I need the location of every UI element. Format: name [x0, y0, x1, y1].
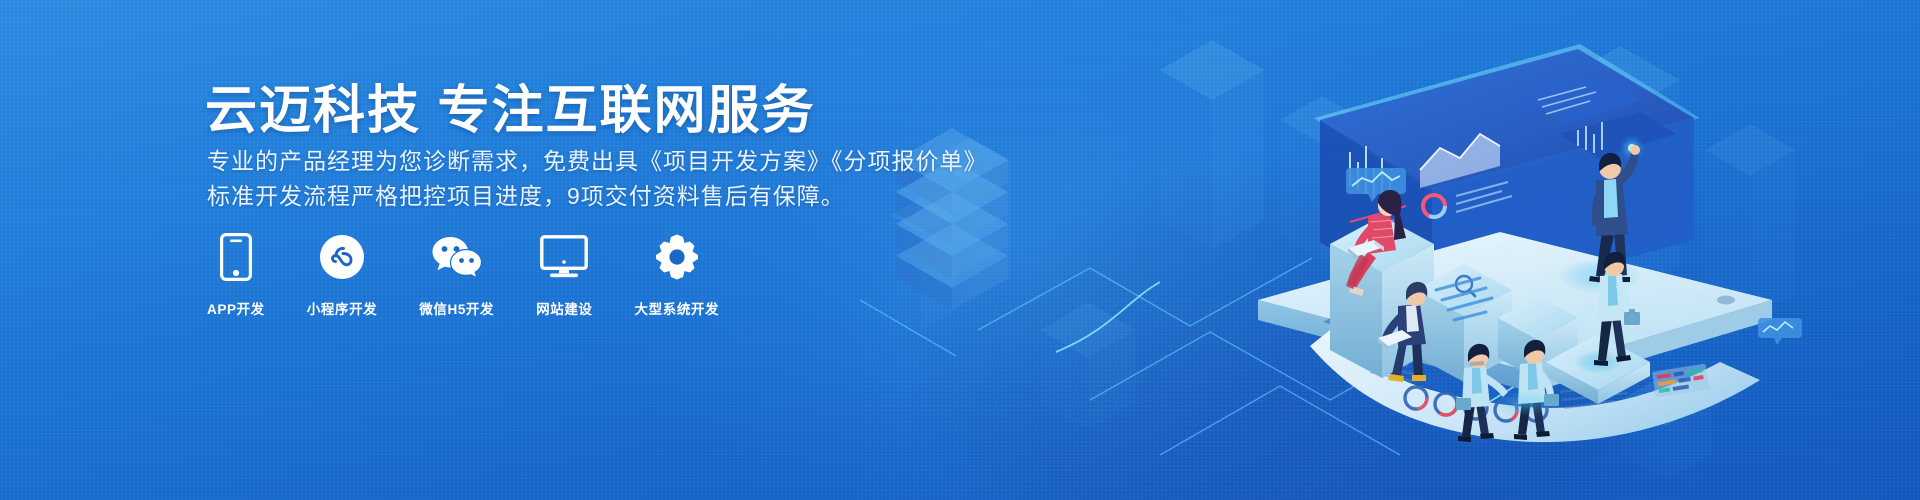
subtitle-line-1: 专业的产品经理为您诊断需求，免费出具《项目开发方案》《分项报价单》 [207, 144, 988, 179]
desktop-monitor-glyph [540, 235, 588, 279]
gear-glyph [654, 234, 700, 280]
service-label-website: 网站建设 [536, 298, 592, 318]
mobile-phone-glyph [220, 233, 252, 281]
service-item-wechat[interactable]: 微信H5开发 [419, 232, 494, 318]
service-item-website[interactable]: 网站建设 [536, 232, 592, 318]
chart-bubble-small [1758, 318, 1802, 345]
service-list: APP开发 小程序开发 [207, 232, 719, 318]
service-label-miniprogram: 小程序开发 [307, 298, 378, 318]
service-item-app[interactable]: APP开发 [207, 232, 265, 318]
service-item-miniprogram[interactable]: 小程序开发 [307, 232, 378, 318]
banner-subtitle: 专业的产品经理为您诊断需求，免费出具《项目开发方案》《分项报价单》 标准开发流程… [207, 144, 988, 214]
mini-program-icon [319, 232, 365, 282]
gear-icon [654, 232, 700, 282]
wechat-icon [431, 232, 483, 282]
isometric-illustration [860, 0, 1920, 500]
banner-content: 云迈科技 专注互联网服务 专业的产品经理为您诊断需求，免费出具《项目开发方案》《… [205, 0, 965, 500]
wechat-glyph [431, 235, 483, 279]
service-item-system[interactable]: 大型系统开发 [635, 232, 720, 318]
illustration-svg [860, 0, 1920, 500]
service-label-wechat: 微信H5开发 [419, 298, 494, 318]
service-label-system: 大型系统开发 [635, 298, 720, 318]
mini-program-glyph [319, 234, 365, 280]
subtitle-line-2: 标准开发流程严格把控项目进度，9项交付资料售后有保障。 [207, 179, 988, 214]
desktop-monitor-icon [540, 232, 588, 282]
service-label-app: APP开发 [207, 298, 265, 318]
hero-banner: 云迈科技 专注互联网服务 专业的产品经理为您诊断需求，免费出具《项目开发方案》《… [0, 0, 1920, 500]
page-title: 云迈科技 专注互联网服务 [205, 68, 815, 143]
mobile-phone-icon [220, 232, 252, 282]
